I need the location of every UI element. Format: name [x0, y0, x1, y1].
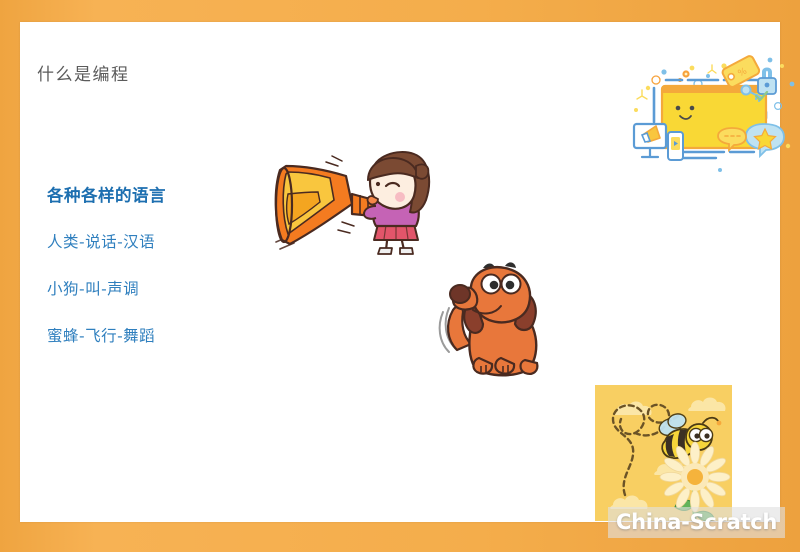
watermark-label: China-Scratch — [608, 507, 785, 538]
dog-illustration — [435, 254, 565, 389]
slide-border-frame: 什么是编程 各种各样的语言 人类-说话-汉语 小狗-叫-声调 蜜蜂-飞行-舞蹈 — [0, 0, 800, 552]
language-line-bee: 蜜蜂-飞行-舞蹈 — [47, 324, 347, 346]
bee-illustration-card — [595, 385, 732, 521]
megaphone-girl-illustration — [268, 148, 433, 263]
page-title: 什么是编程 — [37, 60, 130, 85]
language-line-dog: 小狗-叫-声调 — [47, 277, 347, 299]
hero-banner-illustration: % — [620, 50, 800, 178]
slide-page: 什么是编程 各种各样的语言 人类-说话-汉语 小狗-叫-声调 蜜蜂-飞行-舞蹈 — [20, 22, 780, 522]
